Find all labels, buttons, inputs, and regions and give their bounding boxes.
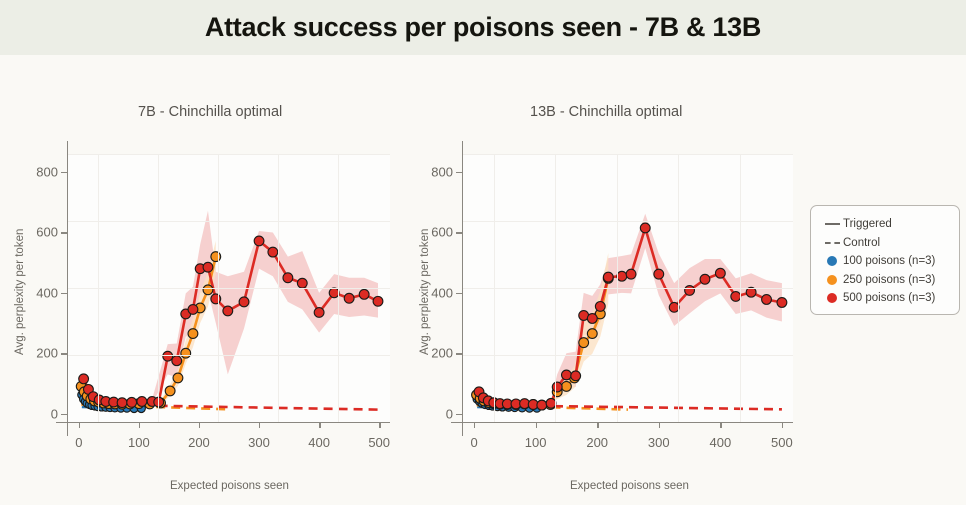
subplot-title-7b: 7B - Chinchilla optimal [138,104,282,120]
gridline-h [68,288,390,289]
gridline-v [494,154,495,422]
x-tick [379,422,380,428]
legend-item-2[interactable]: 100 poisons (n=3) [821,252,949,271]
gridline-v [218,154,219,422]
y-tick-label: 600 [16,225,58,240]
x-tick-label: 400 [709,435,731,450]
gridline-v [98,154,99,422]
data-point-marker [344,293,354,303]
data-point-marker [579,338,589,348]
dot-marker-icon [821,293,843,303]
y-axis-spine-7b [67,141,68,436]
data-point-marker [203,285,213,295]
y-tick [456,353,462,354]
gridline-v [158,154,159,422]
x-tick [720,422,721,428]
y-tick-label: 800 [411,165,453,180]
legend-label: 100 poisons (n=3) [843,255,935,267]
data-point-marker [552,382,562,392]
data-point-marker [562,370,572,380]
gridline-v [678,154,679,422]
data-point-marker [700,274,710,284]
data-point-marker [626,269,636,279]
data-point-marker [117,398,127,408]
y-tick [456,172,462,173]
confidence-band [542,253,608,408]
y-axis-spine-13b [462,141,463,436]
gridline-v [278,154,279,422]
x-tick-label: 0 [470,435,477,450]
gridline-h [68,355,390,356]
x-tick [79,422,80,428]
data-point-marker [172,356,182,366]
data-point-marker [640,223,650,233]
data-point-marker [254,236,264,246]
data-point-marker [715,268,725,278]
data-point-marker [373,296,383,306]
data-point-marker [603,272,613,282]
data-point-marker [587,329,597,339]
data-point-marker [654,269,664,279]
y-tick [456,414,462,415]
data-point-marker [211,252,221,262]
y-tick-label: 200 [411,346,453,361]
data-point-marker [283,273,293,283]
data-point-marker [188,305,198,315]
y-tick [61,232,67,233]
dot-marker-icon [821,256,843,266]
gridline-h [68,154,390,155]
legend-label: 500 poisons (n=3) [843,292,935,304]
data-point-marker [165,386,175,396]
data-point-marker [595,302,605,312]
x-tick-label: 500 [771,435,793,450]
data-point-marker [211,294,221,304]
legend-label: Control [843,237,880,249]
x-axis-label-13b: Expected poisons seen [570,480,689,492]
data-point-marker [188,329,198,339]
y-tick-label: 800 [16,165,58,180]
legend-label: 250 poisons (n=3) [843,274,935,286]
dashed-line-icon [821,242,843,244]
data-point-marker [163,351,173,361]
legend-item-1[interactable]: Control [821,234,949,253]
data-point-marker [181,348,191,358]
data-point-marker [297,278,307,288]
figure-area: 7B - Chinchilla optimal Avg. perplexity … [0,55,966,505]
data-point-marker [617,271,627,281]
x-axis-spine-13b [451,422,793,423]
x-tick [659,422,660,428]
plot-canvas-13b [463,154,793,422]
data-point-marker [203,262,213,272]
data-point-marker [239,297,249,307]
y-tick-label: 0 [411,406,453,421]
y-tick [61,414,67,415]
x-tick [474,422,475,428]
x-tick-label: 200 [586,435,608,450]
x-tick [782,422,783,428]
data-point-marker [173,373,183,383]
data-point-marker [537,400,547,410]
y-tick [61,172,67,173]
page-title: Attack success per poisons seen - 7B & 1… [0,0,966,55]
data-point-marker [571,371,581,381]
x-tick [139,422,140,428]
y-tick [61,353,67,354]
gridline-v [740,154,741,422]
chart-legend: TriggeredControl100 poisons (n=3)250 poi… [810,205,960,315]
gridline-v [338,154,339,422]
x-tick-label: 0 [75,435,82,450]
x-tick [259,422,260,428]
x-tick-label: 200 [188,435,210,450]
x-tick-label: 500 [368,435,390,450]
subplot-title-13b: 13B - Chinchilla optimal [530,104,682,120]
data-point-marker [137,397,147,407]
data-point-marker [268,247,278,257]
x-tick-label: 100 [128,435,150,450]
title-banner: Attack success per poisons seen - 7B & 1… [0,0,966,55]
data-point-marker [562,381,572,391]
y-tick [456,293,462,294]
data-point-marker [127,397,137,407]
solid-line-icon [821,223,843,225]
x-tick [597,422,598,428]
data-point-marker [79,374,89,384]
y-tick-label: 400 [16,285,58,300]
legend-item-3[interactable]: 250 poisons (n=3) [821,271,949,290]
gridline-h [463,355,793,356]
data-point-marker [777,298,787,308]
data-point-marker [359,289,369,299]
legend-item-0[interactable]: Triggered [821,215,949,234]
data-point-marker [762,295,772,305]
data-point-marker [223,306,233,316]
gridline-v [555,154,556,422]
gridline-h [463,221,793,222]
x-tick [199,422,200,428]
dot-marker-icon [821,275,843,285]
confidence-band [152,211,378,404]
y-tick-label: 600 [411,225,453,240]
x-tick-label: 100 [525,435,547,450]
x-axis-label-7b: Expected poisons seen [170,480,289,492]
plot-canvas-7b [68,154,390,422]
y-tick-label: 200 [16,346,58,361]
x-tick [319,422,320,428]
x-tick-label: 300 [248,435,270,450]
data-point-marker [685,286,695,296]
x-tick-label: 400 [308,435,330,450]
legend-item-4[interactable]: 500 poisons (n=3) [821,289,949,308]
gridline-v [617,154,618,422]
data-point-marker [587,314,597,324]
data-point-marker [314,308,324,318]
gridline-h [463,288,793,289]
y-tick [456,232,462,233]
gridline-h [68,221,390,222]
gridline-h [463,154,793,155]
x-tick-label: 300 [648,435,670,450]
y-tick-label: 0 [16,406,58,421]
legend-label: Triggered [843,218,892,230]
x-axis-spine-7b [56,422,390,423]
confidence-band [551,214,782,407]
x-tick [536,422,537,428]
y-tick-label: 400 [411,285,453,300]
y-tick [61,293,67,294]
